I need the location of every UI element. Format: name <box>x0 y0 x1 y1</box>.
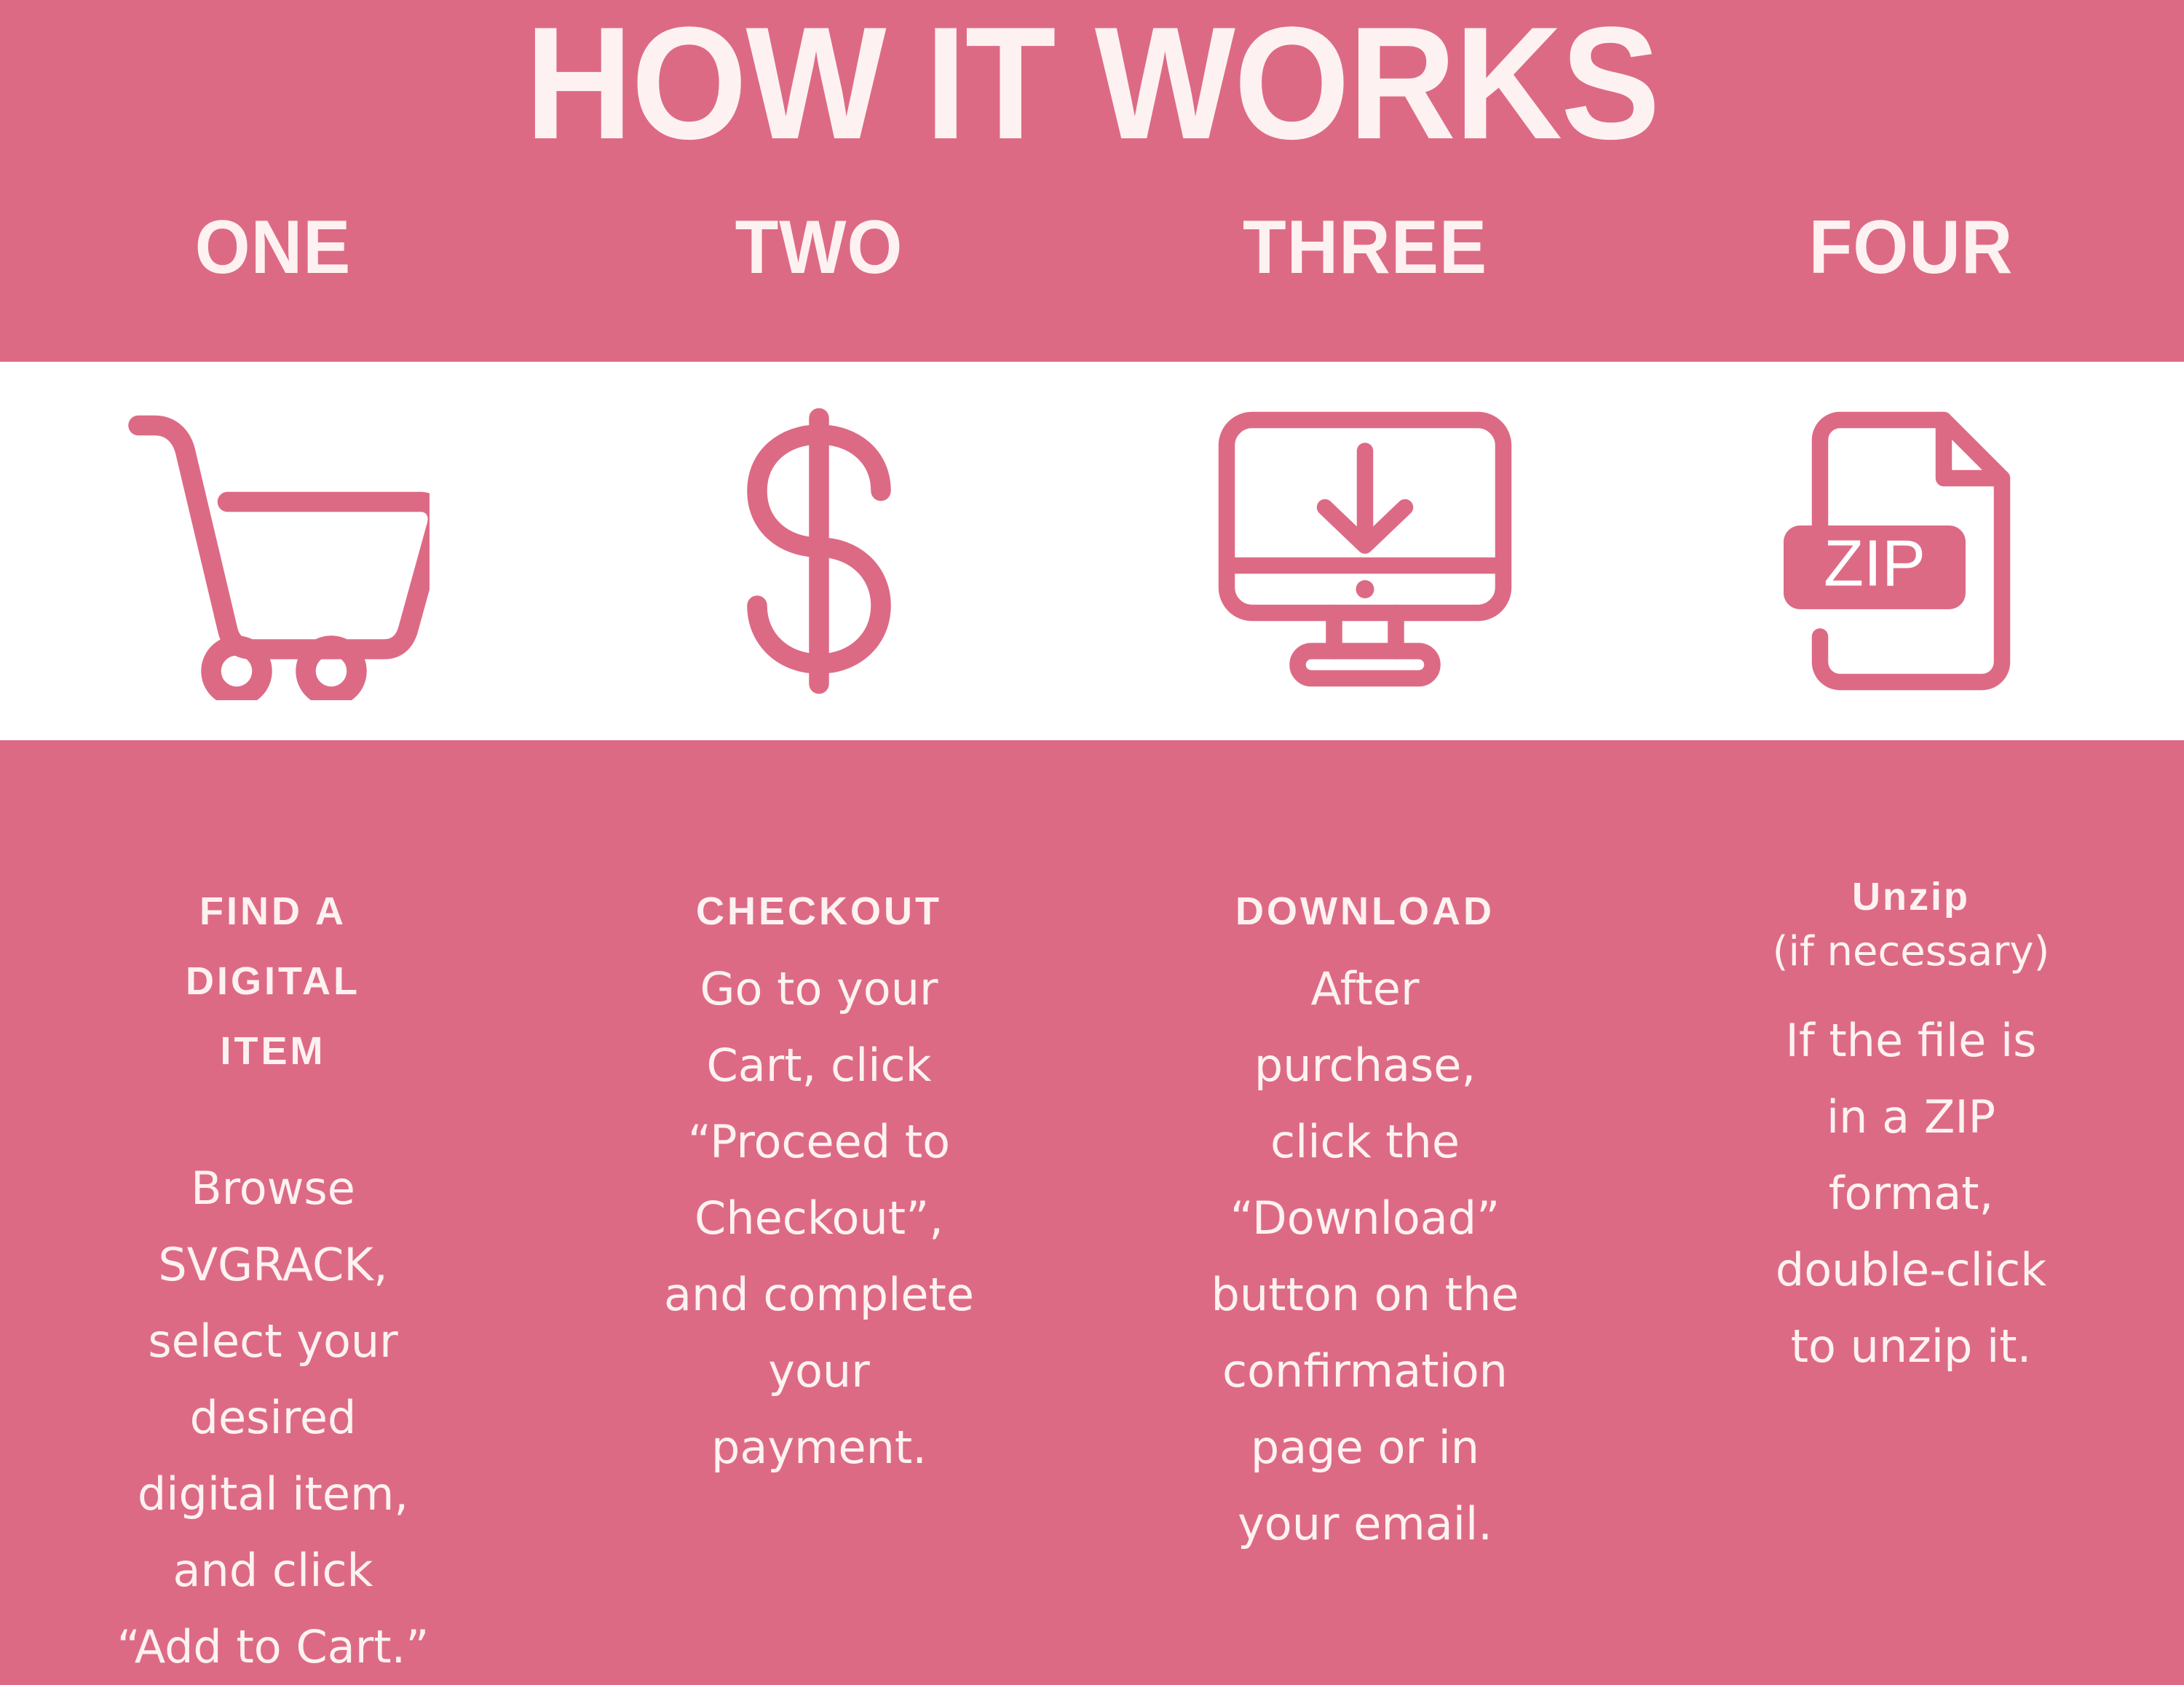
icon-band: ZIP <box>0 362 2184 740</box>
step-number-row: ONE TWO THREE FOUR <box>0 207 2184 288</box>
header-band: HOW IT WORKS ONE TWO THREE FOUR <box>0 0 2184 362</box>
step-number-four: FOUR <box>1655 207 2168 288</box>
icon-cell-three <box>1092 362 1638 740</box>
icon-cell-four: ZIP <box>1638 362 2184 740</box>
step-number-one: ONE <box>17 207 530 288</box>
zip-file-icon: ZIP <box>1780 405 2042 697</box>
column-three-body: After purchase, click the “Download” but… <box>1117 951 1613 1562</box>
step-column-one: FIND A DIGITAL ITEM Browse SVGRACK, sele… <box>0 740 546 1638</box>
infographic-poster: HOW IT WORKS ONE TWO THREE FOUR <box>0 0 2184 1638</box>
column-four-heading: Unzip <box>1663 870 2159 924</box>
dollar-sign-icon <box>721 405 917 697</box>
column-four-subheading: (if necessary) <box>1663 924 2159 980</box>
column-four-body: If the file is in a ZIP format, double-c… <box>1663 1002 2159 1384</box>
content-band: FIND A DIGITAL ITEM Browse SVGRACK, sele… <box>0 740 2184 1638</box>
step-number-two: TWO <box>563 207 1076 288</box>
zip-badge-label: ZIP <box>1824 528 1926 600</box>
column-three-heading: DOWNLOAD <box>1117 876 1613 946</box>
page-title: HOW IT WORKS <box>76 0 2108 170</box>
step-number-three: THREE <box>1109 207 1622 288</box>
monitor-download-icon <box>1212 409 1518 693</box>
icon-cell-two <box>546 362 1092 740</box>
step-column-two: CHECKOUT Go to your Cart, click “Proceed… <box>546 740 1092 1638</box>
column-two-heading: CHECKOUT <box>571 876 1067 946</box>
step-column-three: DOWNLOAD After purchase, click the “Down… <box>1092 740 1638 1638</box>
step-column-four: Unzip (if necessary) If the file is in a… <box>1638 740 2184 1638</box>
shopping-cart-icon <box>116 402 430 700</box>
column-one-heading: FIND A DIGITAL ITEM <box>25 876 521 1086</box>
icon-cell-one <box>0 362 546 740</box>
column-one-body: Browse SVGRACK, select your desired digi… <box>25 1150 521 1685</box>
column-two-body: Go to your Cart, click “Proceed to Check… <box>571 951 1067 1486</box>
